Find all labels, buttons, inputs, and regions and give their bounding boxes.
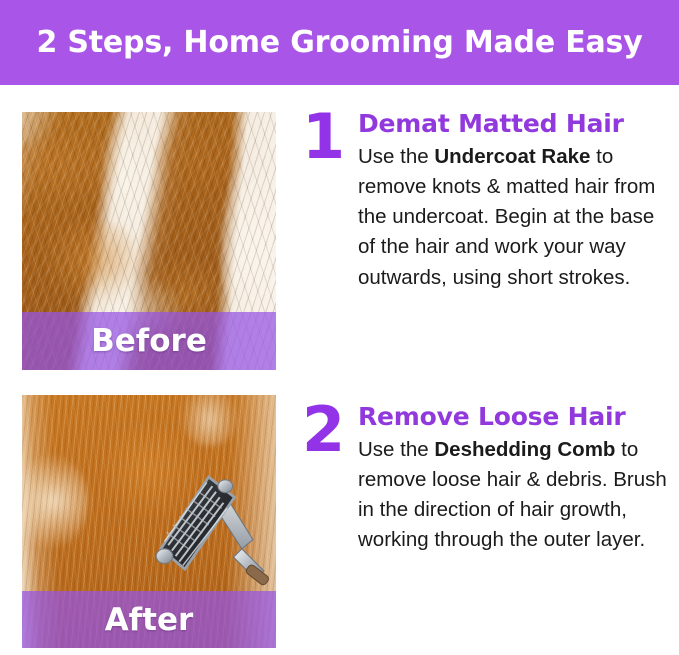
before-label-bar: Before [22, 312, 276, 370]
after-label-text: After [105, 602, 194, 638]
step-1-body: Demat Matted Hair Use the Undercoat Rake… [358, 108, 668, 293]
after-label-bar: After [22, 591, 276, 648]
step-2-number: 2 [302, 401, 358, 458]
step-2-text-lead: Use the [358, 438, 434, 461]
step-1: 1 Demat Matted Hair Use the Undercoat Ra… [302, 108, 668, 293]
step-2-text: Use the Deshedding Comb to remove loose … [358, 435, 668, 556]
step-1-heading: Demat Matted Hair [358, 110, 668, 137]
step-2-heading: Remove Loose Hair [358, 403, 668, 430]
before-photo-panel: Before [22, 112, 276, 370]
step-2: 2 Remove Loose Hair Use the Deshedding C… [302, 401, 668, 556]
step-2-body: Remove Loose Hair Use the Deshedding Com… [358, 401, 668, 556]
step-1-text-lead: Use the [358, 145, 434, 168]
content-area: Before [0, 85, 679, 655]
step-2-bold-term: Deshedding Comb [434, 438, 615, 461]
step-1-text: Use the Undercoat Rake to remove knots &… [358, 142, 668, 293]
before-label-text: Before [91, 323, 207, 359]
deshedding-rake-tool-icon [124, 446, 271, 613]
page-title: 2 Steps, Home Grooming Made Easy [36, 25, 642, 60]
step-1-bold-term: Undercoat Rake [434, 145, 590, 168]
header-banner: 2 Steps, Home Grooming Made Easy [0, 0, 679, 85]
after-photo-panel: After [22, 395, 276, 648]
step-1-number: 1 [302, 108, 358, 165]
